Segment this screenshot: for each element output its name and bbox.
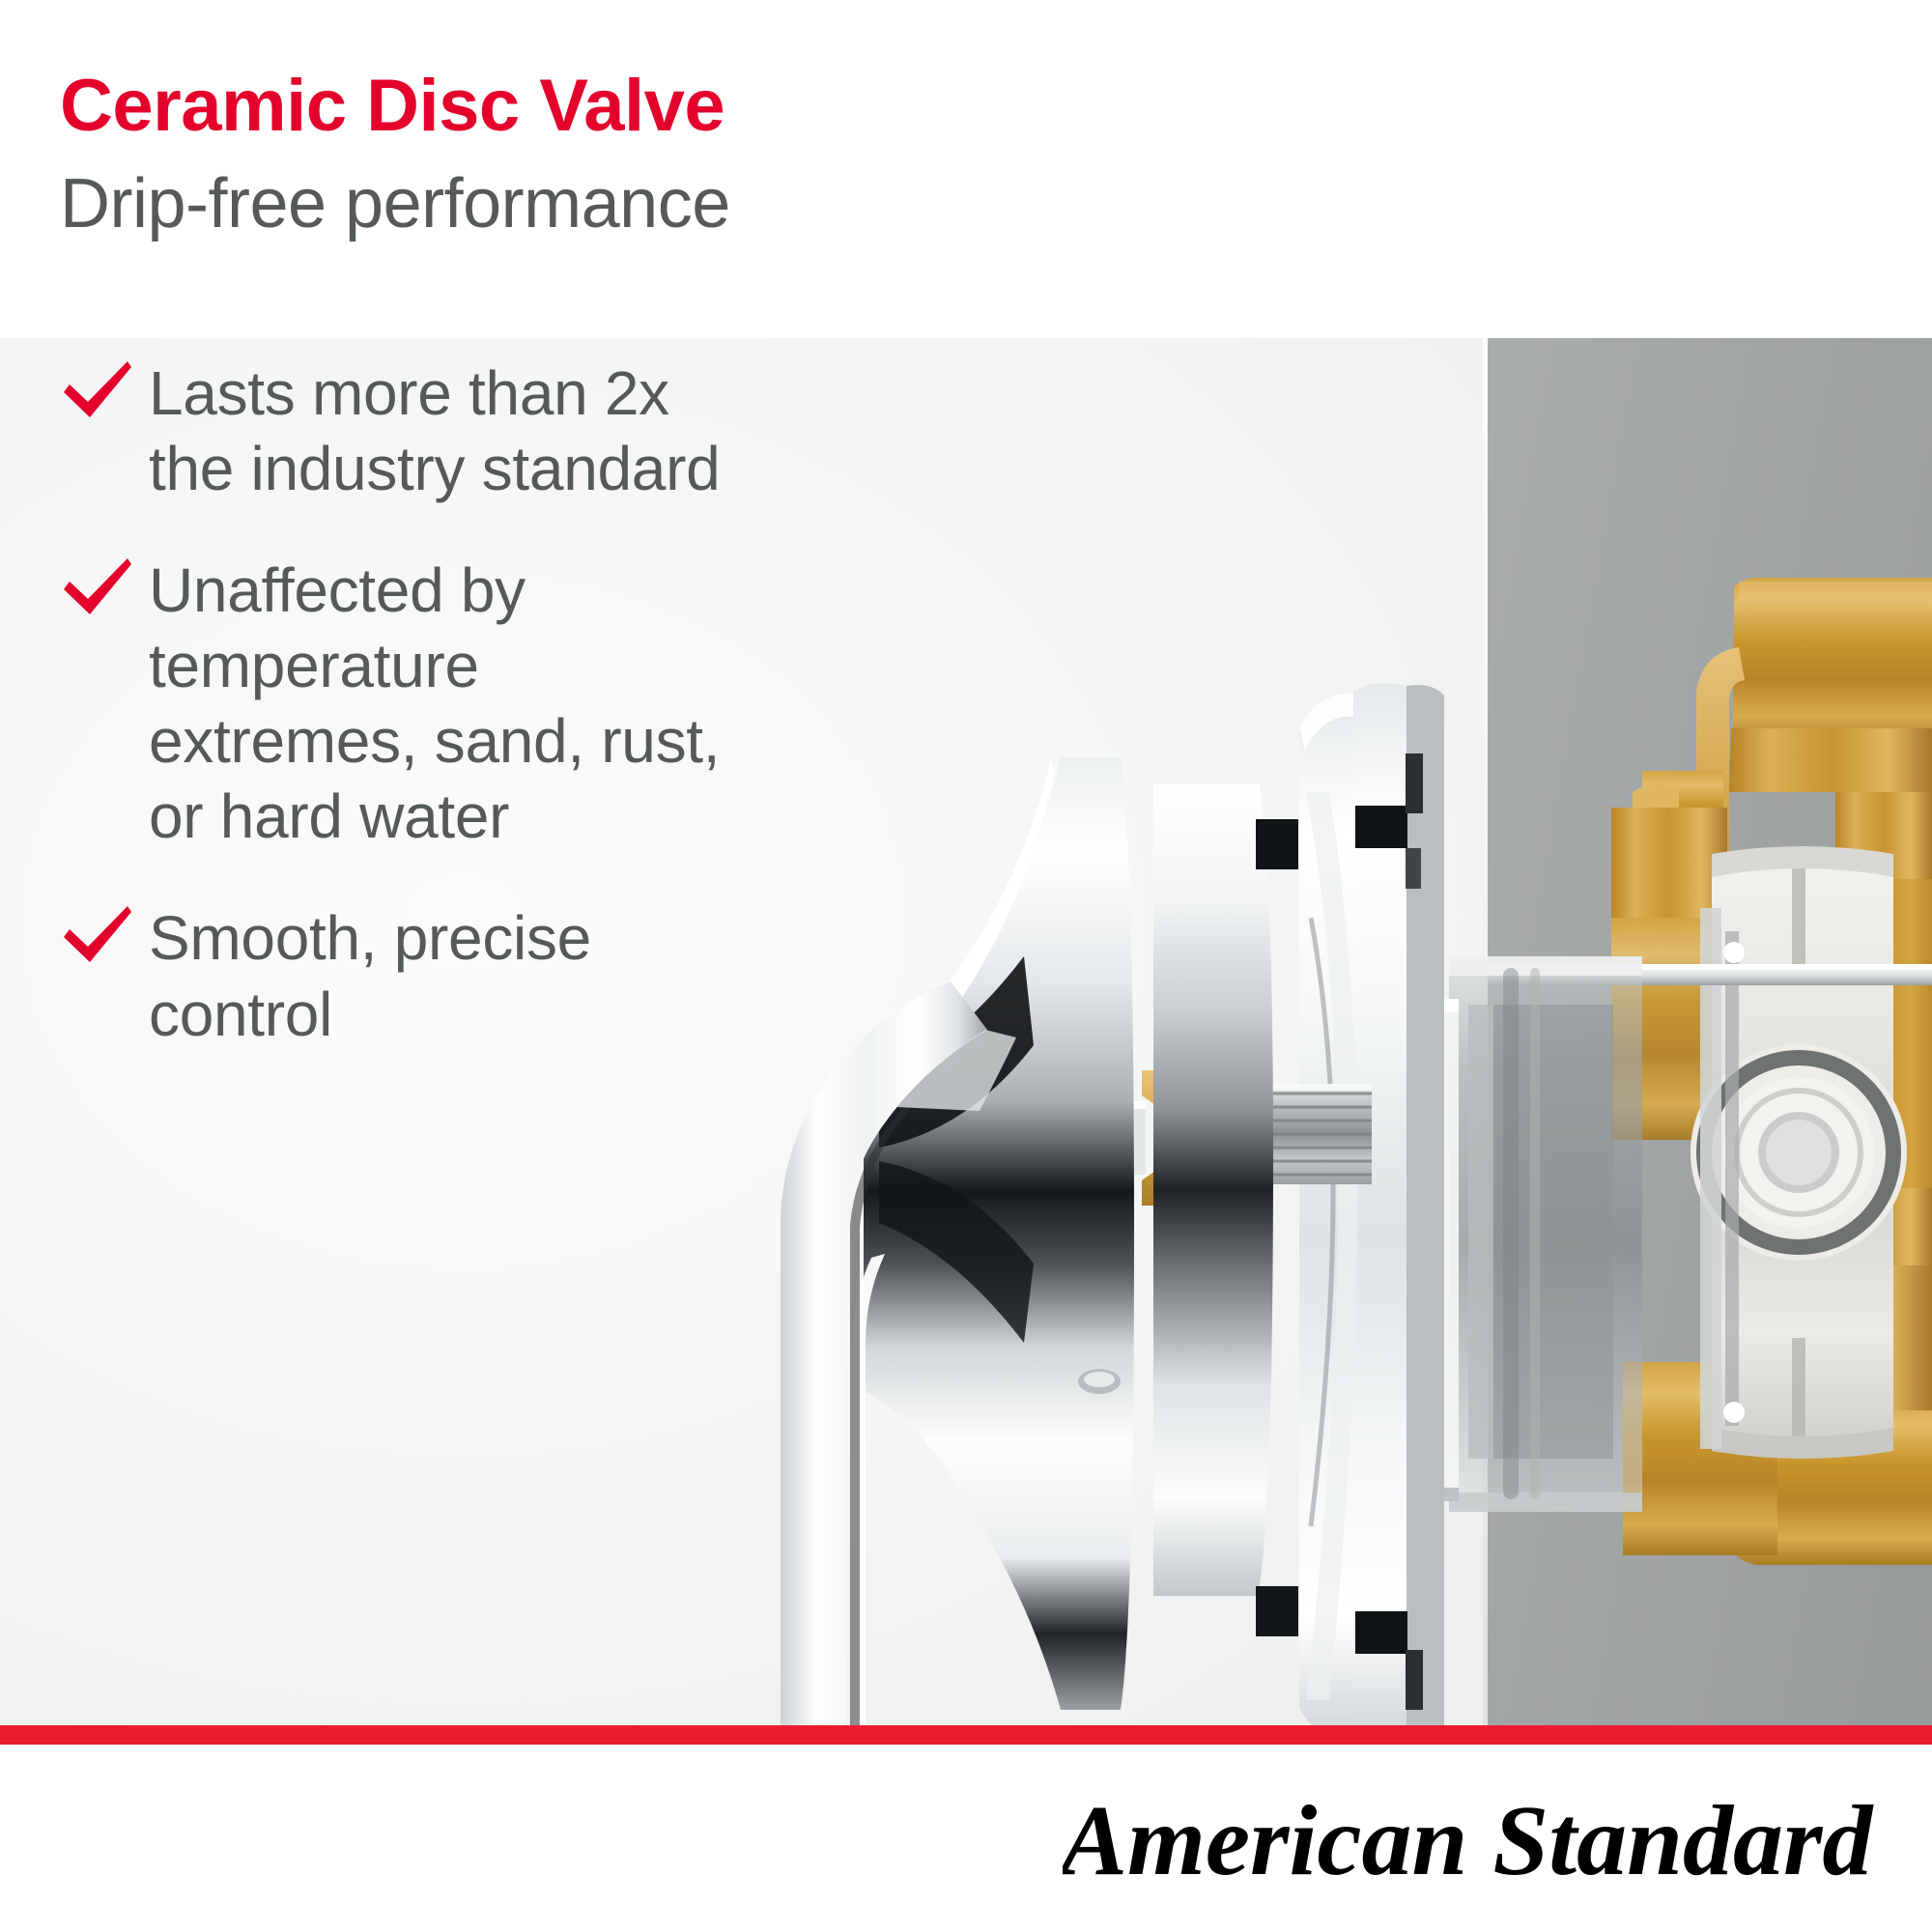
brand-logo: American Standard: [1063, 1779, 1874, 1905]
check-icon: [60, 553, 149, 620]
feature-text: Lasts more than 2x the industry standard: [149, 355, 728, 506]
american-standard-wordmark: American Standard: [1063, 1779, 1874, 1905]
list-item: Lasts more than 2x the industry standard: [60, 355, 755, 506]
list-item: Unaffected by temperature extremes, sand…: [60, 553, 755, 854]
page-title: Ceramic Disc Valve: [60, 70, 724, 143]
list-item: Smooth, precise control: [60, 900, 755, 1051]
feature-text: Unaffected by temperature extremes, sand…: [149, 553, 728, 854]
feature-text: Smooth, precise control: [149, 900, 728, 1051]
hero-section: Lasts more than 2x the industry standard…: [0, 338, 1932, 1725]
footer-divider: [0, 1725, 1932, 1745]
header: Ceramic Disc Valve Drip-free performance: [0, 0, 1932, 338]
feature-list: Lasts more than 2x the industry standard…: [60, 355, 755, 1098]
chrome-trim-cone: [864, 757, 1298, 1710]
check-icon: [60, 900, 149, 968]
ceramic-disc-cartridge: [1690, 846, 1907, 1459]
chrome-escutcheon-trim: [1299, 683, 1444, 1725]
brand-text: American Standard: [1063, 1785, 1874, 1896]
infographic-page: Ceramic Disc Valve Drip-free performance: [0, 0, 1932, 1932]
page-subtitle: Drip-free performance: [60, 169, 730, 239]
check-icon: [60, 355, 149, 423]
footer: American Standard: [0, 1745, 1932, 1932]
